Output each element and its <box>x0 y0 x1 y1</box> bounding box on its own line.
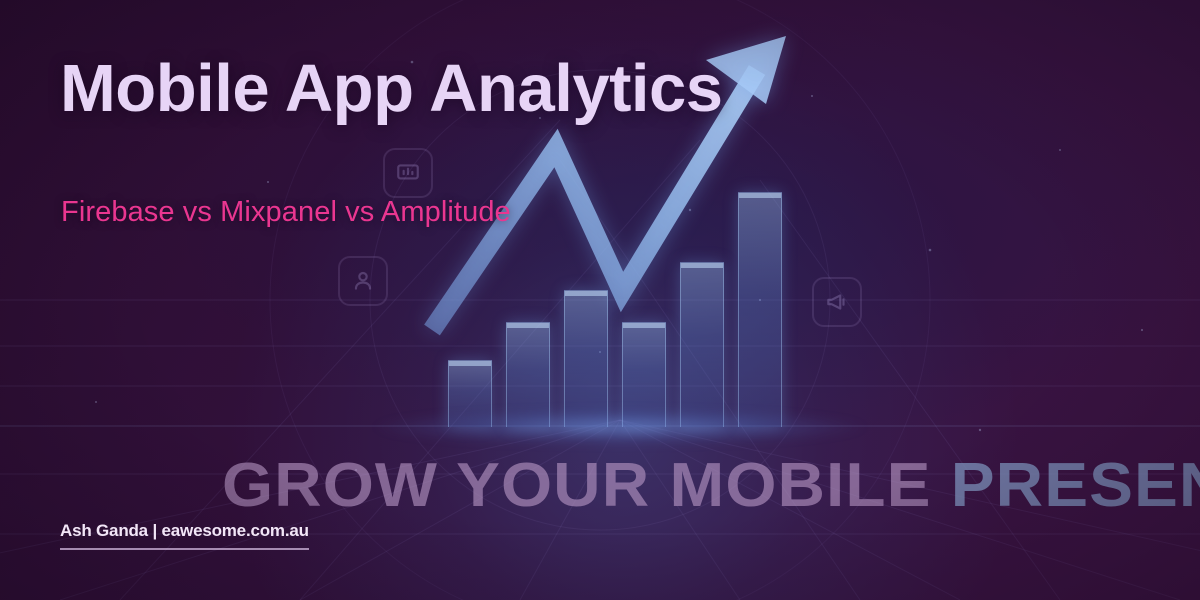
watermark-part-two: PRESENCE <box>951 451 1200 520</box>
baseline-glow <box>300 404 940 450</box>
chart-bar <box>448 360 492 427</box>
user-profile-icon <box>338 256 388 306</box>
page-subtitle: Firebase vs Mixpanel vs Amplitude <box>61 196 511 229</box>
author-byline[interactable]: Ash Ganda | eawesome.com.au <box>60 521 309 550</box>
megaphone-icon <box>812 277 862 327</box>
chart-bar <box>680 262 724 427</box>
chart-bar <box>564 290 608 427</box>
watermark-part-one: GROW YOUR MOBILE <box>222 451 951 520</box>
analytics-monitor-icon <box>383 148 433 198</box>
chart-bar <box>738 192 782 427</box>
chart-bar <box>622 322 666 427</box>
hero-banner: GROW YOUR MOBILE PRESENCE Mobile App Ana… <box>0 0 1200 600</box>
chart-bar <box>506 322 550 427</box>
watermark-tagline: GROW YOUR MOBILE PRESENCE <box>222 455 1038 517</box>
page-title: Mobile App Analytics <box>60 50 723 127</box>
